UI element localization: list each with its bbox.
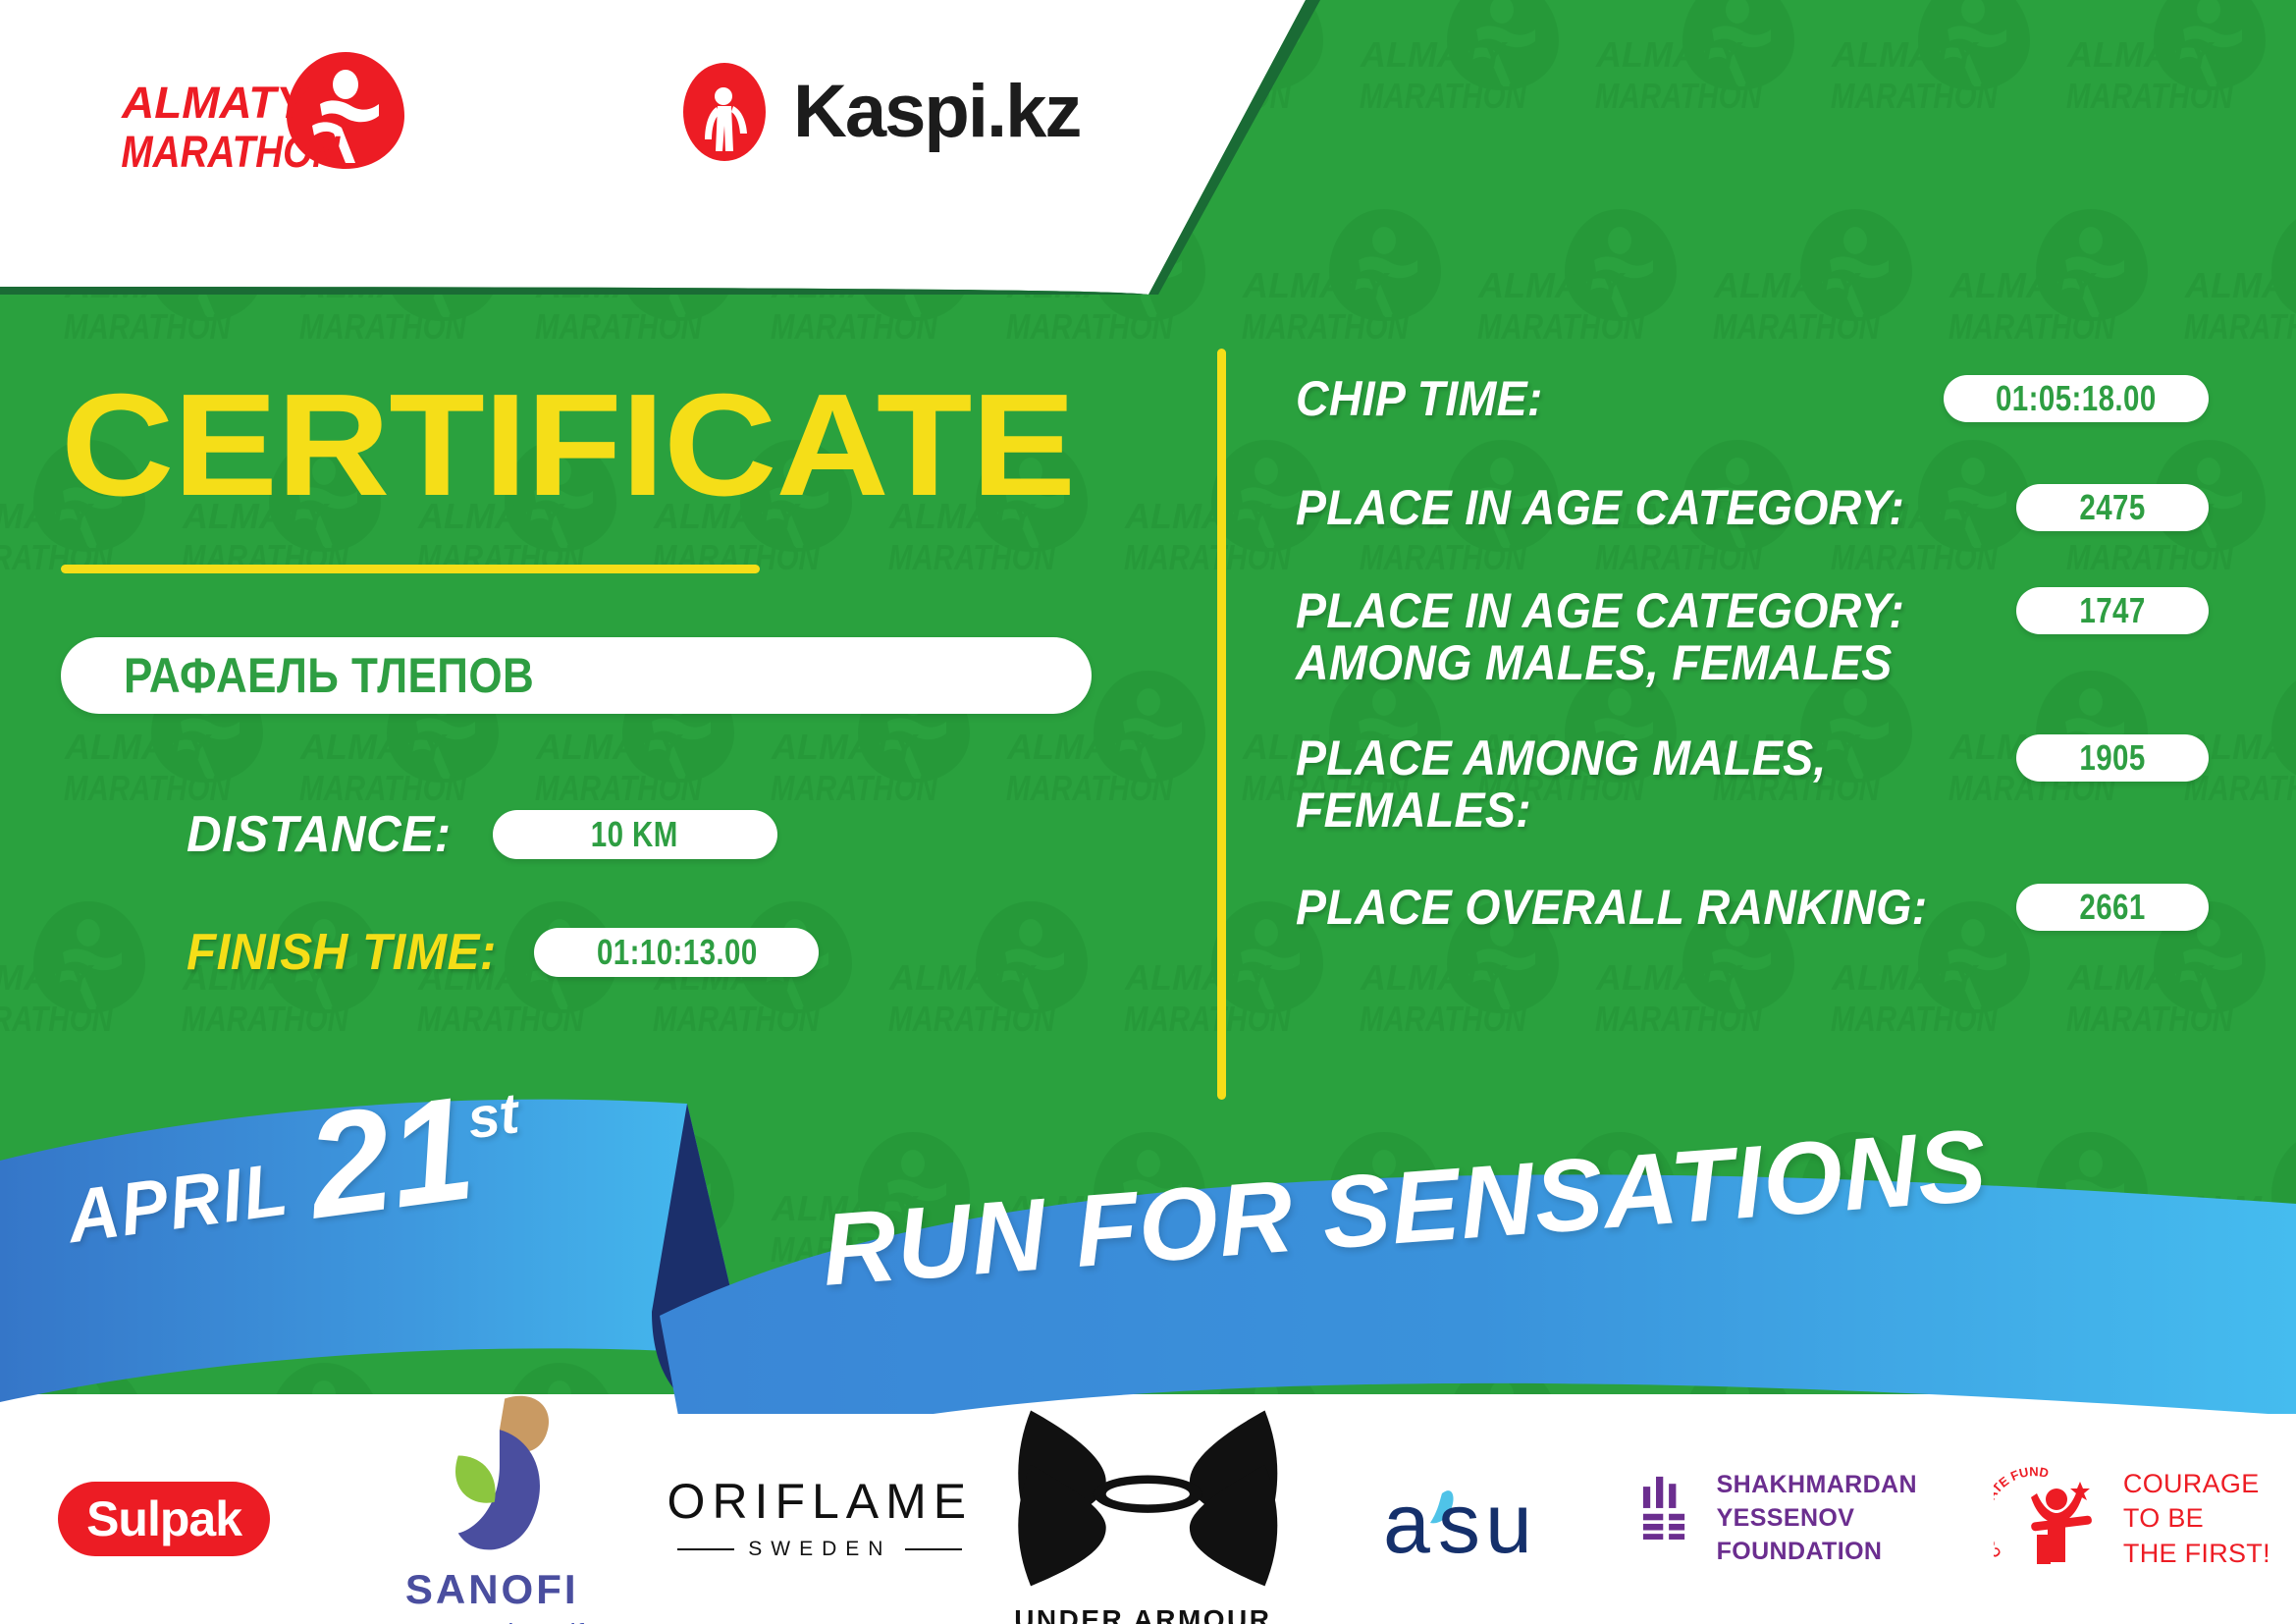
sanofi-logo: SANOFI Empowering Life — [386, 1388, 598, 1624]
certificate-page: ALMATYMARATHONALMATYMARATHONALMATYMARATH… — [0, 0, 2296, 1624]
svg-text:a: a — [1383, 1477, 1430, 1566]
finish-time-value-pill: 01:10:13.00 — [534, 928, 819, 977]
watermark-tile: ALMATYMARATHON — [1355, 1345, 1590, 1394]
kaspi-logo: Kaspi.kz — [677, 61, 1080, 163]
sponsor-bar: Sulpak SANOFI Empowering Life ORIFLAME — [0, 1414, 2296, 1624]
place-age-category-gender-row: PLACE IN AGE CATEGORY:AMONG MALES, FEMAL… — [1296, 585, 2209, 689]
kaspi-wordmark: Kaspi.kz — [793, 75, 1080, 149]
svg-text:MARATHON: MARATHON — [1713, 306, 1881, 346]
svg-text:ALMATY: ALMATY — [121, 78, 309, 127]
svg-text:ALMATY: ALMATY — [1124, 496, 1272, 536]
place-age-category-gender-value-pill: 1747 — [2016, 587, 2209, 634]
sponsor-oriflame: ORIFLAME SWEDEN — [656, 1440, 984, 1597]
svg-text:MARATHON: MARATHON — [0, 999, 114, 1038]
under-armour-mark-icon — [1014, 1402, 1282, 1595]
place-overall-row: PLACE OVERALL RANKING: 2661 — [1296, 882, 2209, 934]
chip-time-value: 01:05:18.00 — [1996, 378, 2157, 419]
svg-text:MARATHON: MARATHON — [888, 999, 1056, 1038]
chip-time-row: CHIP TIME: 01:05:18.00 — [1296, 373, 2209, 425]
sponsor-yessenov-foundation: SHAKHMARDAN YESSENOV FOUNDATION — [1640, 1440, 1968, 1597]
yessenov-wordmark: SHAKHMARDAN YESSENOV FOUNDATION — [1717, 1469, 1968, 1568]
event-day: 21 — [300, 1081, 480, 1234]
courage-wordmark: COURAGE TO BE THE FIRST! — [2123, 1467, 2270, 1570]
svg-text:MARATHON: MARATHON — [417, 999, 585, 1038]
svg-text:MARATHON: MARATHON — [653, 999, 821, 1038]
almaty-marathon-logo: ALMATY MARATHON — [118, 47, 432, 175]
place-among-gender-value-pill: 1905 — [2016, 734, 2209, 782]
sponsor-courage-fund: CORPORATE FUND COURAGE TO BE THE FIRST! — [1968, 1440, 2296, 1597]
svg-text:ALMATY: ALMATY — [299, 727, 448, 767]
athlete-name-value: РАФАЕЛЬ ТЛЕПОВ — [124, 647, 534, 704]
event-day-suffix: st — [463, 1080, 522, 1152]
oriflame-wordmark: ORIFLAME — [667, 1477, 974, 1526]
title-underline — [61, 565, 760, 573]
watermark-tile: ALMATYMARATHON — [0, 884, 177, 1114]
sanofi-wordmark: SANOFI — [386, 1569, 598, 1610]
sulpak-logo: Sulpak — [58, 1482, 270, 1556]
svg-text:MARATHON: MARATHON — [1949, 1229, 2116, 1269]
oriflame-country: SWEDEN — [748, 1538, 891, 1561]
svg-text:ALMATY: ALMATY — [535, 1188, 683, 1228]
svg-text:MARATHON: MARATHON — [299, 768, 467, 807]
svg-text:MARATHON: MARATHON — [299, 306, 467, 346]
svg-text:ALMATY: ALMATY — [0, 957, 94, 998]
oriflame-sub: SWEDEN — [667, 1538, 974, 1561]
yessenov-line1: SHAKHMARDAN YESSENOV — [1717, 1469, 1968, 1536]
oriflame-rule-left — [677, 1548, 734, 1550]
distance-row: DISTANCE: 10 KM — [187, 805, 777, 864]
sponsor-asu: a s u — [1312, 1440, 1640, 1597]
courage-line3: THE FIRST! — [2123, 1537, 2270, 1571]
finish-time-label: FINISH TIME: — [187, 923, 497, 982]
svg-text:MARATHON: MARATHON — [1595, 999, 1763, 1038]
under-armour-wordmark: UNDER ARMOUR. — [1014, 1604, 1282, 1624]
watermark-tile: ALMATYMARATHON — [883, 884, 1119, 1114]
watermark-tile: ALMATYMARATHON — [0, 1345, 177, 1394]
place-among-gender-row: PLACE AMONG MALES,FEMALES: 1905 — [1296, 732, 2209, 837]
finish-time-value: 01:10:13.00 — [597, 932, 758, 973]
svg-text:MARATHON: MARATHON — [771, 306, 938, 346]
yessenov-logo: SHAKHMARDAN YESSENOV FOUNDATION — [1640, 1469, 1968, 1568]
svg-text:ALMATY: ALMATY — [535, 727, 683, 767]
svg-text:MARATHON: MARATHON — [2066, 999, 2234, 1038]
under-armour-logo: UNDER ARMOUR. — [1014, 1402, 1282, 1624]
courage-line2: TO BE — [2123, 1501, 2270, 1536]
watermark-tile: ALMATYMARATHON — [530, 1114, 766, 1345]
svg-text:ALMATY: ALMATY — [771, 727, 919, 767]
svg-text:MARATHON: MARATHON — [771, 768, 938, 807]
svg-text:ALMATY: ALMATY — [2066, 957, 2215, 998]
place-among-gender-label: PLACE AMONG MALES,FEMALES: — [1296, 732, 1966, 837]
place-age-category-gender-label: PLACE IN AGE CATEGORY:AMONG MALES, FEMAL… — [1296, 585, 1966, 689]
watermark-tile: ALMATYMARATHON — [177, 1345, 412, 1394]
svg-text:s: s — [1438, 1477, 1480, 1566]
svg-text:MARATHON: MARATHON — [64, 306, 232, 346]
sanofi-tagline: Empowering Life — [386, 1618, 598, 1624]
watermark-tile: ALMATYMARATHON — [648, 884, 883, 1114]
watermark-tile: ALMATYMARATHON — [2061, 1345, 2296, 1394]
svg-text:ALMATY: ALMATY — [1360, 957, 1508, 998]
svg-text:ALMATY: ALMATY — [2184, 1188, 2296, 1228]
courage-runner-icon: CORPORATE FUND — [1994, 1464, 2109, 1574]
asu-logo: a s u — [1383, 1472, 1570, 1566]
svg-text:ALMATY: ALMATY — [888, 957, 1037, 998]
svg-text:MARATHON: MARATHON — [1477, 306, 1645, 346]
watermark-tile: ALMATYMARATHON — [883, 1345, 1119, 1394]
results-panel: CHIP TIME: 01:05:18.00 PLACE IN AGE CATE… — [1296, 373, 2209, 934]
yessenov-line2: FOUNDATION — [1717, 1536, 1968, 1569]
svg-text:MARATHON: MARATHON — [888, 537, 1056, 576]
sponsor-under-armour: UNDER ARMOUR. — [984, 1440, 1311, 1597]
place-overall-label: PLACE OVERALL RANKING: — [1296, 882, 1966, 934]
svg-text:MARATHON: MARATHON — [2184, 306, 2296, 346]
distance-label: DISTANCE: — [187, 805, 452, 864]
place-age-category-value-pill: 2475 — [2016, 484, 2209, 531]
svg-text:ALMATY: ALMATY — [1124, 957, 1272, 998]
oriflame-rule-right — [905, 1548, 962, 1550]
watermark-tile: ALMATYMARATHON — [1590, 1345, 1826, 1394]
svg-text:MARATHON: MARATHON — [64, 768, 232, 807]
place-overall-value: 2661 — [2079, 887, 2145, 928]
sponsor-sulpak: Sulpak — [0, 1440, 328, 1597]
place-age-category-label: PLACE IN AGE CATEGORY: — [1296, 482, 1966, 534]
svg-text:MARATHON: MARATHON — [121, 127, 341, 175]
courage-line1: COURAGE — [2123, 1467, 2270, 1501]
distance-value: 10 KM — [591, 814, 678, 855]
sanofi-mark-icon — [386, 1388, 598, 1569]
yessenov-mark-icon — [1640, 1474, 1693, 1564]
vertical-divider — [1217, 349, 1226, 1100]
distance-value-pill: 10 KM — [493, 810, 777, 859]
svg-text:MARATHON: MARATHON — [1360, 999, 1527, 1038]
place-age-category-row: PLACE IN AGE CATEGORY: 2475 — [1296, 482, 2209, 534]
place-overall-value-pill: 2661 — [2016, 884, 2209, 931]
chip-time-value-pill: 01:05:18.00 — [1944, 375, 2209, 422]
svg-text:MARATHON: MARATHON — [1949, 306, 2116, 346]
sponsor-sanofi: SANOFI Empowering Life — [328, 1440, 656, 1597]
watermark-tile: ALMATYMARATHON — [412, 1345, 648, 1394]
place-age-category-gender-value: 1747 — [2079, 590, 2145, 631]
athlete-name-field: РАФАЕЛЬ ТЛЕПОВ — [61, 637, 1092, 714]
svg-text:MARATHON: MARATHON — [1831, 999, 1999, 1038]
svg-text:MARATHON: MARATHON — [535, 1229, 703, 1269]
courage-logo: CORPORATE FUND COURAGE TO BE THE FIRST! — [1994, 1464, 2270, 1574]
watermark-tile: ALMATYMARATHON — [2179, 1114, 2296, 1345]
svg-text:MARATHON: MARATHON — [1124, 537, 1292, 576]
sulpak-wordmark: Sulpak — [86, 1494, 241, 1543]
finish-time-row: FINISH TIME: 01:10:13.00 — [187, 923, 819, 982]
kaspi-person-icon — [677, 61, 772, 163]
svg-text:ALMATY: ALMATY — [64, 727, 212, 767]
svg-text:MARATHON: MARATHON — [535, 768, 703, 807]
place-age-category-value: 2475 — [2079, 487, 2145, 528]
svg-text:MARATHON: MARATHON — [1006, 306, 1174, 346]
watermark-tile: ALMATYMARATHON — [1826, 1345, 2061, 1394]
watermark-tile: ALMATYMARATHON — [1119, 1345, 1355, 1394]
svg-text:u: u — [1485, 1477, 1532, 1566]
oriflame-logo: ORIFLAME SWEDEN — [667, 1477, 974, 1561]
svg-text:ALMATY: ALMATY — [1831, 957, 1979, 998]
chip-time-label: CHIP TIME: — [1296, 373, 1898, 425]
svg-text:ALMATY: ALMATY — [1595, 957, 1743, 998]
svg-text:MARATHON: MARATHON — [1006, 768, 1174, 807]
place-among-gender-value: 1905 — [2079, 737, 2145, 779]
svg-text:MARATHON: MARATHON — [1124, 999, 1292, 1038]
page-title: CERTIFICATE — [61, 373, 1075, 518]
svg-text:MARATHON: MARATHON — [1242, 306, 1410, 346]
svg-text:MARATHON: MARATHON — [535, 306, 703, 346]
svg-text:MARATHON: MARATHON — [182, 999, 349, 1038]
svg-text:MARATHON: MARATHON — [2184, 1229, 2296, 1269]
watermark-tile: ALMATYMARATHON — [648, 1345, 883, 1394]
svg-text:ALMATY: ALMATY — [1006, 727, 1154, 767]
